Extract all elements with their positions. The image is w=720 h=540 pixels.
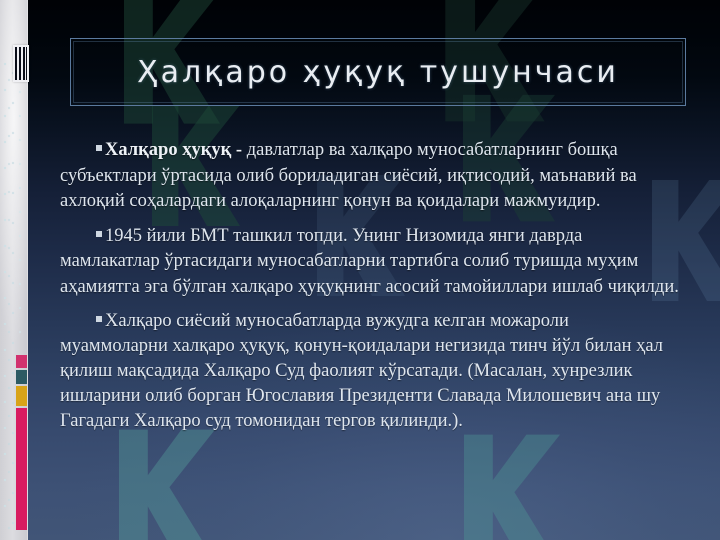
square-bullet-icon [96,145,102,151]
paragraph-bold-lead: Халқаро ҳуқуқ - [105,140,247,160]
bullet-paragraph: Халқаро сиёсий муносабатларда вужудга ке… [60,309,680,434]
chip-gold [16,386,27,406]
chip-long-magenta [16,408,27,530]
square-bullet-icon [96,231,102,237]
chip-teal [16,370,27,384]
bullet-paragraph: Халқаро ҳуқуқ - давлатлар ва халқаро мун… [60,138,680,215]
paragraph-text: 1945 йили БМТ ташкил топди. Унинг Низоми… [60,226,679,297]
square-bullet-icon [96,316,102,322]
slide-title-box: Ҳалқаро ҳуқуқ тушунчаси [70,38,686,106]
paragraph-text: Халқаро сиёсий муносабатларда вужудга ке… [60,311,663,431]
left-decorative-rail [0,0,28,540]
bullet-paragraph: 1945 йили БМТ ташкил топди. Унинг Низоми… [60,224,680,301]
page-title: Ҳалқаро ҳуқуқ тушунчаси [137,55,619,90]
presentation-slide: Ҳалқаро ҳуқуқ тушунчаси Халқаро ҳуқуқ - … [0,0,720,540]
chip-pink [16,355,27,368]
rail-edge-highlight [27,0,28,540]
slide-body: Халқаро ҳуқуқ - давлатлар ва халқаро мун… [60,138,680,434]
